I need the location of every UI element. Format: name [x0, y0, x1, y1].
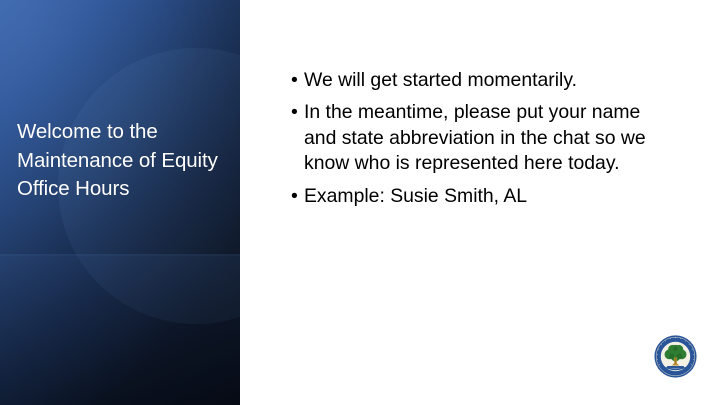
- decorative-band: [0, 256, 240, 405]
- list-item-text: We will get started momentarily.: [304, 69, 577, 91]
- bullet-dot-icon: •: [291, 68, 298, 93]
- list-item-text: Example: Susie Smith, AL: [304, 185, 527, 207]
- list-item-text: In the meantime, please put your name an…: [304, 101, 646, 174]
- us-department-of-education-seal-icon: [654, 335, 697, 378]
- bullet-list: • We will get started momentarily. • In …: [291, 68, 661, 209]
- list-item: • In the meantime, please put your name …: [291, 100, 661, 176]
- slide-title: Welcome to the Maintenance of Equity Off…: [17, 118, 231, 204]
- bullet-dot-icon: •: [291, 184, 298, 209]
- list-item: • We will get started momentarily.: [291, 68, 661, 93]
- presentation-slide: Welcome to the Maintenance of Equity Off…: [0, 0, 720, 405]
- list-item: • Example: Susie Smith, AL: [291, 184, 661, 209]
- bullet-dot-icon: •: [291, 100, 298, 125]
